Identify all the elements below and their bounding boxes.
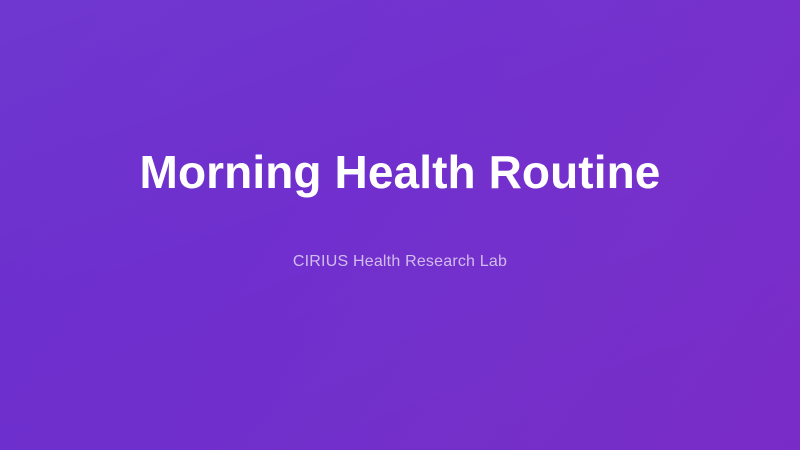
title-text-block: Morning Health Routine CIRIUS Health Res…	[0, 0, 800, 450]
page-title: Morning Health Routine	[60, 146, 740, 198]
presentation-title-slide: Morning Health Routine CIRIUS Health Res…	[0, 0, 800, 450]
slide-subtitle: CIRIUS Health Research Lab	[60, 251, 740, 272]
